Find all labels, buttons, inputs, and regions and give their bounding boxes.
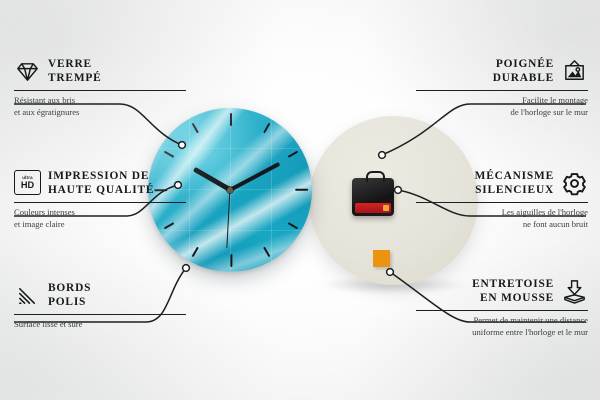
callout-title-line2: EN MOUSSE <box>480 292 554 304</box>
callout-title-line1: POIGNÉE <box>496 58 554 70</box>
callout-header: POIGNÉE DURABLE <box>416 58 588 86</box>
callout-header: MÉCANISME SILENCIEUX <box>416 170 588 198</box>
callout-title-line2: DURABLE <box>493 72 554 84</box>
callout-rule <box>14 90 186 92</box>
callout-sub-line1: Surface lisse et sûre <box>14 319 83 329</box>
callout-title: VERRE TREMPÉ <box>48 58 102 86</box>
callout-rule <box>416 90 588 92</box>
callout-rule <box>14 202 186 204</box>
callout-sub-line1: Les aiguilles de l'horloge <box>502 207 588 217</box>
callout-rule <box>416 202 588 204</box>
ultra-hd-badge-icon: ultra HD <box>14 170 41 197</box>
callout-sub-line2: et aux égratignures <box>14 107 79 117</box>
callout-sub-line2: uniforme entre l'horloge et le mur <box>472 327 588 337</box>
callout-title-line1: MÉCANISME <box>475 170 554 182</box>
picture-hanger-icon <box>561 58 588 85</box>
callout-title: IMPRESSION DE HAUTE QUALITÉ <box>48 170 154 198</box>
callout-verre-trempe: VERRE TREMPÉ Résistant aux bris et aux é… <box>14 58 186 119</box>
callout-sub-line1: Permet de maintenir une distance <box>473 315 588 325</box>
callout-header: ENTRETOISE EN MOUSSE <box>416 278 588 306</box>
callout-entretoise-en-mousse: ENTRETOISE EN MOUSSE Permet de maintenir… <box>416 278 588 339</box>
callout-impression-haute-qualite: ultra HD IMPRESSION DE HAUTE QUALITÉ Cou… <box>14 170 186 231</box>
callout-title-line1: BORDS <box>48 282 91 294</box>
callout-sub-line2: et image claire <box>14 219 65 229</box>
callout-sub-line2: ne font aucun bruit <box>523 219 588 229</box>
callout-subtitle: Les aiguilles de l'horloge ne font aucun… <box>416 207 588 230</box>
ultra-hd-main-text: HD <box>21 181 34 190</box>
callout-subtitle: Facilite le montage de l'horloge sur le … <box>416 95 588 118</box>
callout-subtitle: Résistant aux bris et aux égratignures <box>14 95 186 118</box>
callout-title: BORDS POLIS <box>48 282 91 310</box>
callout-title-line2: POLIS <box>48 296 86 308</box>
callout-title-line1: IMPRESSION DE <box>48 170 149 182</box>
callout-subtitle: Permet de maintenir une distance uniform… <box>416 315 588 338</box>
callout-header: ultra HD IMPRESSION DE HAUTE QUALITÉ <box>14 170 186 198</box>
callout-subtitle: Surface lisse et sûre <box>14 319 186 331</box>
callout-title-line1: VERRE <box>48 58 92 70</box>
callout-sub-line1: Résistant aux bris <box>14 95 75 105</box>
callout-title: POIGNÉE DURABLE <box>493 58 554 86</box>
callout-title: MÉCANISME SILENCIEUX <box>475 170 554 198</box>
callout-rule <box>416 310 588 312</box>
gear-icon <box>561 170 588 197</box>
callout-title-line2: TREMPÉ <box>48 72 102 84</box>
foam-spacer-icon <box>561 278 588 305</box>
callout-header: BORDS POLIS <box>14 282 186 310</box>
callout-rule <box>14 314 186 316</box>
callout-header: VERRE TREMPÉ <box>14 58 186 86</box>
callout-sub-line1: Facilite le montage <box>522 95 588 105</box>
callout-title: ENTRETOISE EN MOUSSE <box>472 278 554 306</box>
polished-edge-icon <box>14 282 41 309</box>
diamond-icon <box>14 58 41 85</box>
callout-title-line2: SILENCIEUX <box>475 184 554 196</box>
callout-subtitle: Couleurs intenses et image claire <box>14 207 186 230</box>
callout-sub-line1: Couleurs intenses <box>14 207 75 217</box>
callout-poignee-durable: POIGNÉE DURABLE Facilite le montage de l… <box>416 58 588 119</box>
callout-sub-line2: de l'horloge sur le mur <box>511 107 588 117</box>
callout-mecanisme-silencieux: MÉCANISME SILENCIEUX Les aiguilles de l'… <box>416 170 588 231</box>
callout-title-line2: HAUTE QUALITÉ <box>48 184 154 196</box>
product-infographic: VERRE TREMPÉ Résistant aux bris et aux é… <box>0 0 600 400</box>
callout-title-line1: ENTRETOISE <box>472 278 554 290</box>
callout-bords-polis: BORDS POLIS Surface lisse et sûre <box>14 282 186 331</box>
